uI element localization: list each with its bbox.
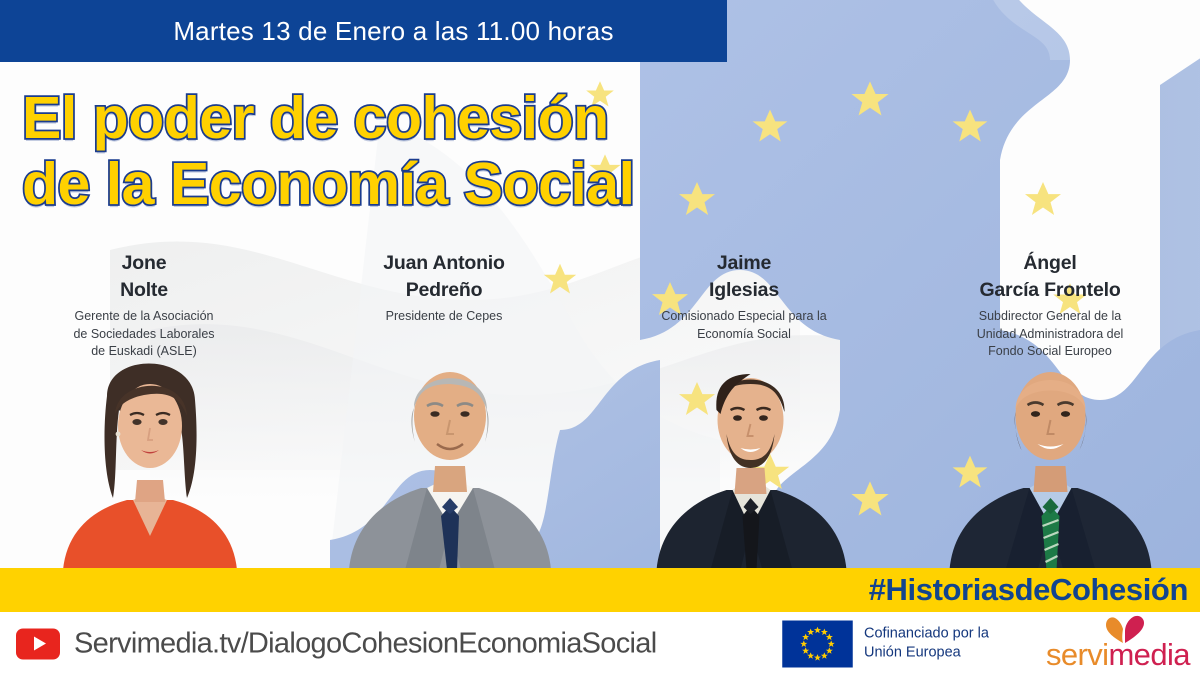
speaker-role: Presidente de Cepes — [302, 308, 586, 326]
play-triangle-icon — [34, 637, 46, 651]
speaker-role-line-1: Comisionado Especial para la — [602, 308, 886, 326]
speaker-name: Juan Antonio Pedreño — [302, 250, 586, 304]
speaker-role-line-3: Fondo Social Europeo — [908, 343, 1192, 361]
speaker-role: Comisionado Especial para la Economía So… — [602, 308, 886, 344]
eu-text-line-1: Cofinanciado por la — [864, 626, 989, 642]
speaker-role-line-1: Subdirector General de la — [908, 308, 1192, 326]
speaker-card-4: Ángel García Frontelo Subdirector Genera… — [900, 250, 1200, 380]
speaker-name-line-2: Pedreño — [302, 277, 586, 304]
speaker-name: Ángel García Frontelo — [908, 250, 1192, 304]
date-banner: Martes 13 de Enero a las 11.00 horas — [0, 0, 727, 62]
speaker-name: Jaime Iglesias — [602, 250, 886, 304]
date-banner-text: Martes 13 de Enero a las 11.00 horas — [113, 16, 613, 47]
speaker-name: Jone Nolte — [2, 250, 286, 304]
servimedia-wordmark: servimedia — [1046, 637, 1190, 673]
speaker-role: Subdirector General de la Unidad Adminis… — [908, 308, 1192, 361]
speaker-role-line-3: de Euskadi (ASLE) — [2, 343, 286, 361]
speaker-role-line-1: Gerente de la Asociación — [2, 308, 286, 326]
eu-text-line-2: Unión Europea — [864, 645, 961, 661]
speaker-name-line-2: Nolte — [2, 277, 286, 304]
speaker-card-1: Jone Nolte Gerente de la Asociación de S… — [0, 250, 294, 380]
page-title-line-2: de la Economía Social — [22, 154, 635, 214]
european-union-flag-icon — [782, 620, 853, 667]
speaker-name-line-1: Juan Antonio — [302, 250, 586, 277]
servimedia-word-part-2: media — [1108, 637, 1189, 672]
poster-canvas: Martes 13 de Enero a las 11.00 horas El … — [0, 0, 1200, 675]
speaker-name-line-1: Jone — [2, 250, 286, 277]
speaker-name-line-2: García Frontelo — [908, 277, 1192, 304]
youtube-play-icon[interactable] — [16, 628, 60, 659]
speaker-name-line-1: Ángel — [908, 250, 1192, 277]
speaker-name-line-1: Jaime — [602, 250, 886, 277]
youtube-link[interactable]: Servimedia.tv/DialogoCohesionEconomiaSoc… — [16, 627, 656, 660]
servimedia-word-part-1: servi — [1046, 637, 1108, 672]
speaker-role-line-2: Economía Social — [602, 326, 886, 344]
speaker-role-line-2: Unidad Administradora del — [908, 326, 1192, 344]
speakers-list: Jone Nolte Gerente de la Asociación de S… — [0, 250, 1200, 380]
speaker-role-line-2: de Sociedades Laborales — [2, 326, 286, 344]
speaker-role-line-1: Presidente de Cepes — [302, 308, 586, 326]
footer-bar: Servimedia.tv/DialogoCohesionEconomiaSoc… — [0, 612, 1200, 675]
speaker-name-line-2: Iglesias — [602, 277, 886, 304]
page-title-line-1: El poder de cohesión — [22, 88, 635, 148]
speaker-card-3: Jaime Iglesias Comisionado Especial para… — [594, 250, 894, 380]
page-title: El poder de cohesión de la Economía Soci… — [22, 88, 635, 214]
hashtag: #HistoriasdeCohesión — [869, 569, 1188, 611]
eu-cofunding-logo: Cofinanciado por la Unión Europea — [782, 620, 989, 667]
eu-cofunding-text: Cofinanciado por la Unión Europea — [864, 625, 989, 663]
servimedia-logo: servimedia — [1046, 616, 1184, 672]
speaker-card-2: Juan Antonio Pedreño Presidente de Cepes — [294, 250, 594, 380]
speaker-role: Gerente de la Asociación de Sociedades L… — [2, 308, 286, 361]
stream-url-text[interactable]: Servimedia.tv/DialogoCohesionEconomiaSoc… — [74, 627, 656, 660]
